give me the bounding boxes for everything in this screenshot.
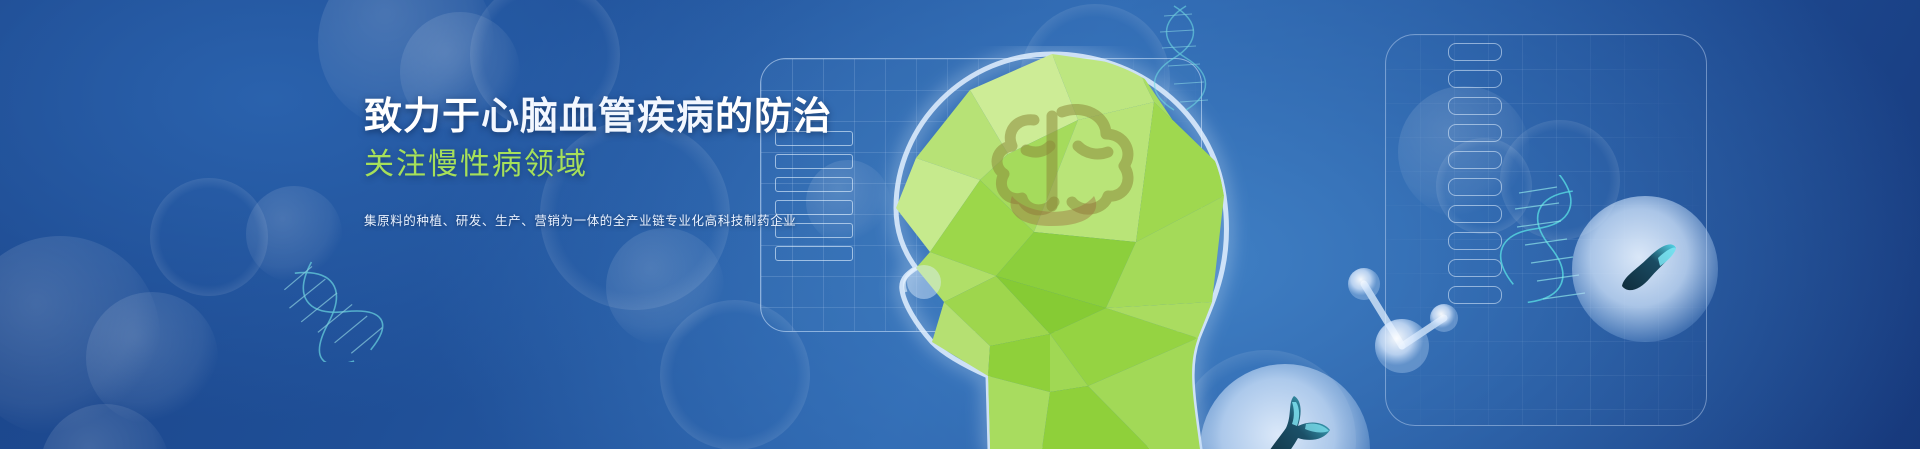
- hud-bar: [1448, 205, 1502, 223]
- human-head-lowpoly-icon: [820, 46, 1250, 449]
- bokeh-circle: [40, 404, 170, 449]
- hud-bar: [1448, 232, 1502, 250]
- hud-bar: [1448, 178, 1502, 196]
- headline-tail: 的防治: [715, 96, 832, 138]
- hud-bar: [1448, 124, 1502, 142]
- hero-banner: 致力于心脑血管疾病的防治 关注慢性病领域 集原料的种植、研发、生产、营销为一体的…: [0, 0, 1920, 449]
- hud-bar: [1448, 151, 1502, 169]
- hud-bar: [1448, 97, 1502, 115]
- hud-bar: [1448, 286, 1502, 304]
- hud-bar: [1448, 70, 1502, 88]
- bokeh-circle: [86, 292, 218, 424]
- banner-headline: 致力于心脑血管疾病的防治: [364, 96, 794, 139]
- bokeh-circle: [0, 236, 160, 436]
- bokeh-circle: [150, 178, 268, 296]
- banner-copy: 致力于心脑血管疾病的防治 关注慢性病领域 集原料的种植、研发、生产、营销为一体的…: [364, 96, 794, 229]
- headline-accent: 心脑血管疾病: [481, 96, 715, 138]
- hud-bar: [1448, 43, 1502, 61]
- bokeh-circle: [606, 228, 724, 346]
- cell-icon: [1572, 196, 1718, 342]
- headline-lead: 致力于: [364, 96, 481, 138]
- banner-subheading: 关注慢性病领域: [364, 148, 794, 183]
- bokeh-circle: [246, 186, 342, 282]
- dna-helix-icon: [278, 252, 408, 362]
- banner-tagline: 集原料的种植、研发、生产、营销为一体的全产业链专业化高科技制药企业: [364, 210, 794, 229]
- hud-bar-list: [1448, 43, 1502, 304]
- hud-bar: [1448, 259, 1502, 277]
